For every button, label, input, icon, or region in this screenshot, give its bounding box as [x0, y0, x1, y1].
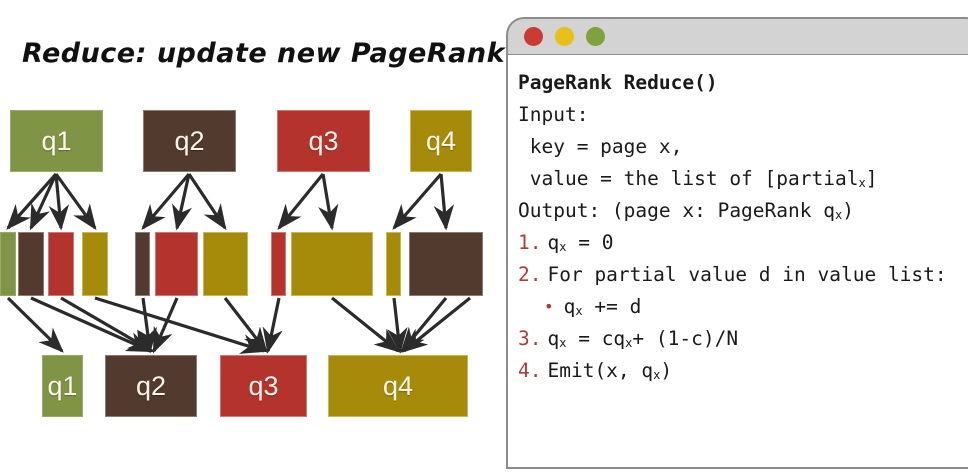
code-subscript: x	[835, 209, 842, 221]
code-line-text: Emit(x, q	[547, 361, 653, 381]
map-edge-8	[323, 174, 332, 228]
node-label: q4	[383, 373, 413, 400]
partial-box-5	[155, 232, 198, 296]
code-subscript: x	[575, 305, 582, 317]
code-subscript: x	[858, 177, 865, 189]
map-edge-3	[56, 174, 95, 228]
code-subscript: x	[559, 241, 566, 253]
minimize-icon[interactable]	[555, 27, 574, 46]
diagram-title: Reduce: update new PageRank	[22, 38, 482, 69]
reduce-edge-10	[402, 298, 446, 351]
map-edge-9	[394, 174, 441, 228]
code-subscript: x	[559, 337, 566, 349]
close-icon[interactable]	[524, 27, 543, 46]
source-node-q3: q3	[277, 110, 370, 172]
window-titlebar[interactable]	[506, 17, 968, 55]
source-node-q2: q2	[143, 110, 236, 172]
node-label: q4	[426, 128, 456, 155]
reduce-edge-1	[31, 298, 150, 351]
code-line-l8: 3.qx = cqx+ (1-c)/N	[518, 323, 968, 355]
result-node-q2: q2	[105, 355, 197, 417]
diagram-panel: Reduce: update new PageRank q1q2q3q4 q1q…	[0, 0, 500, 475]
partial-box-10	[409, 232, 483, 296]
code-line-tail: ]	[866, 169, 878, 189]
code-line-number: 2.	[518, 265, 541, 285]
code-line-text: Input:	[518, 105, 588, 125]
map-edge-1	[31, 174, 56, 228]
partial-box-3	[82, 232, 108, 296]
partial-box-0	[0, 232, 16, 296]
code-line-text: q	[564, 297, 576, 317]
code-line-l7: •qx += d	[518, 291, 968, 323]
code-subscript: x	[653, 369, 660, 381]
code-line-text: PageRank Reduce()	[518, 73, 718, 93]
reduce-edge-8	[332, 298, 398, 351]
code-line-tail: = 0	[566, 233, 613, 253]
reduce-edge-3	[95, 298, 264, 351]
bullet-icon: •	[544, 299, 554, 315]
node-label: q3	[248, 373, 278, 400]
map-edges	[8, 174, 446, 228]
map-edge-0	[8, 174, 56, 228]
partial-box-6	[203, 232, 248, 296]
reduce-edge-9	[394, 298, 400, 351]
partial-box-4	[135, 232, 150, 296]
map-edge-10	[441, 174, 446, 228]
source-node-q4: q4	[410, 110, 472, 172]
node-label: q1	[47, 373, 77, 400]
result-node-q4: q4	[328, 355, 468, 417]
code-line-text: For partial value d in value list:	[547, 265, 946, 285]
code-line-tail: = cq	[566, 329, 625, 349]
code-line-l1: Input:	[518, 99, 968, 131]
reduce-edge-5	[154, 298, 177, 351]
map-edge-7	[279, 174, 323, 228]
result-node-q3: q3	[220, 355, 307, 417]
code-line-text: value = the list of [partial	[518, 169, 858, 189]
code-window: PageRank Reduce()Input: key = page x, va…	[506, 17, 968, 469]
reduce-edge-7	[268, 298, 279, 351]
code-line-l6: 2.For partial value d in value list:	[518, 259, 968, 291]
zoom-icon[interactable]	[586, 27, 605, 46]
result-node-q1: q1	[42, 355, 83, 417]
partial-box-2	[48, 232, 74, 296]
code-body: PageRank Reduce()Input: key = page x, va…	[506, 55, 968, 469]
map-edge-6	[189, 174, 225, 228]
reduce-edge-11	[404, 298, 470, 351]
code-subscript-2: x	[625, 337, 632, 349]
code-line-tail-2: + (1-c)/N	[632, 329, 738, 349]
map-edge-4	[143, 174, 189, 228]
code-line-tail: += d	[583, 297, 642, 317]
source-node-q1: q1	[10, 110, 103, 172]
code-line-text: Output: (page x: PageRank q	[518, 201, 835, 221]
map-edge-2	[56, 174, 61, 228]
code-line-text: q	[547, 233, 559, 253]
code-line-l9: 4.Emit(x, qx)	[518, 355, 968, 387]
reduce-edges	[8, 298, 470, 351]
reduce-edge-0	[8, 298, 62, 351]
reduce-edge-4	[143, 298, 150, 351]
code-line-text: key = page x,	[518, 137, 682, 157]
reduce-edge-2	[61, 298, 152, 351]
code-line-number: 1.	[518, 233, 541, 253]
code-line-l3: value = the list of [partialx]	[518, 163, 968, 195]
node-label: q2	[174, 128, 204, 155]
node-label: q2	[136, 373, 166, 400]
partial-box-8	[291, 232, 373, 296]
partial-box-1	[18, 232, 44, 296]
code-line-tail: )	[660, 361, 672, 381]
node-label: q1	[41, 128, 71, 155]
map-edge-5	[177, 174, 189, 228]
code-line-number: 4.	[518, 361, 541, 381]
code-line-l0: PageRank Reduce()	[518, 67, 968, 99]
code-line-text: q	[547, 329, 559, 349]
code-line-l4: Output: (page x: PageRank qx)	[518, 195, 968, 227]
code-line-l2: key = page x,	[518, 131, 968, 163]
code-line-number: 3.	[518, 329, 541, 349]
partial-box-9	[386, 232, 401, 296]
code-line-l5: 1.qx = 0	[518, 227, 968, 259]
code-line-tail: )	[842, 201, 854, 221]
node-label: q3	[308, 128, 338, 155]
partial-box-7	[271, 232, 286, 296]
reduce-edge-6	[225, 298, 266, 351]
